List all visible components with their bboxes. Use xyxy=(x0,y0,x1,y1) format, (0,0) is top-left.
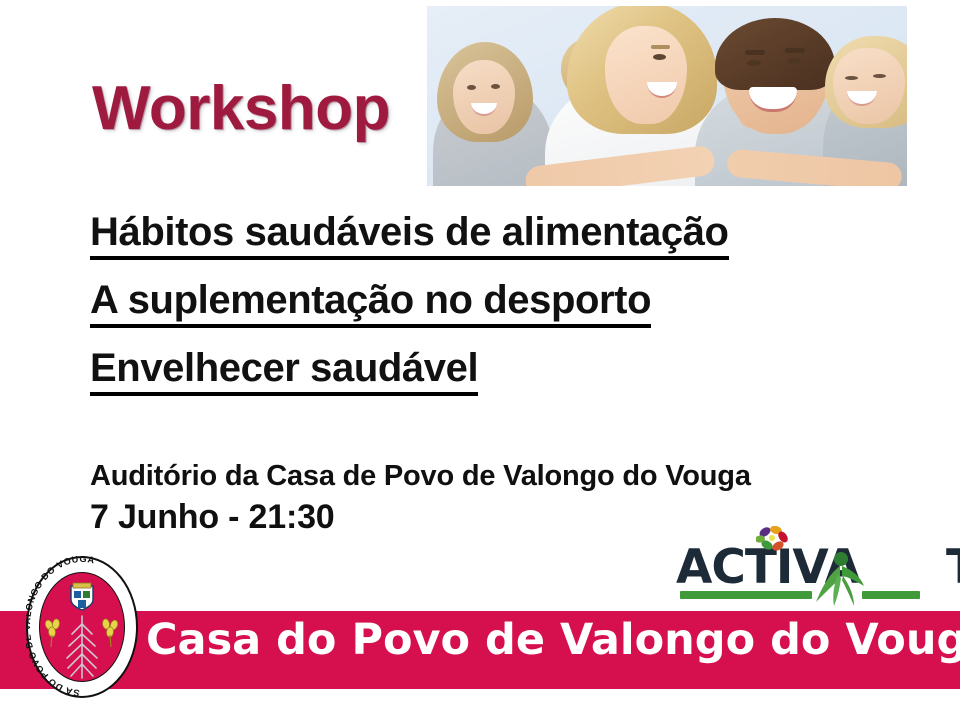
activate-logo-underline-right xyxy=(862,591,920,599)
datetime-text: 7 Junho - 21:30 xyxy=(90,498,335,537)
topic-item: A suplementação no desporto xyxy=(90,280,900,328)
shield-crest-icon xyxy=(67,582,97,612)
activate-logo: ACTIVATE xyxy=(676,528,922,610)
banner-organization-name: Casa do Povo de Valongo do Vouga xyxy=(146,619,960,662)
photo-mother-face xyxy=(605,26,687,124)
wheat-sheaf-icon xyxy=(42,618,66,648)
photo-father-eye xyxy=(787,58,801,64)
photo-father-brow xyxy=(745,50,765,55)
family-photo xyxy=(427,6,907,186)
photo-father-brow xyxy=(785,48,805,53)
wheat-sheaf-icon xyxy=(98,618,122,648)
poster-canvas: Workshop Hábit xyxy=(0,0,960,720)
photo-child-right-eye xyxy=(845,76,858,80)
photo-child-right-face xyxy=(833,48,905,124)
green-person-icon xyxy=(810,546,866,608)
photo-child-right-eye xyxy=(873,74,886,78)
photo-child-left-eye xyxy=(467,85,476,90)
topic-list: Hábitos saudáveis de alimentação A suple… xyxy=(90,212,900,416)
topic-item: Envelhecer saudável xyxy=(90,348,900,396)
venue-text: Auditório da Casa de Povo de Valongo do … xyxy=(90,460,751,493)
topic-item-label: A suplementação no desporto xyxy=(90,280,651,328)
activate-logo-underline-left xyxy=(680,591,812,599)
photo-father-eye xyxy=(747,60,761,66)
topic-item-label: Envelhecer saudável xyxy=(90,348,478,396)
pine-tree-icon xyxy=(62,614,102,680)
photo-mother-eye xyxy=(653,54,666,60)
topic-item: Hábitos saudáveis de alimentação xyxy=(90,212,900,260)
workshop-heading: Workshop xyxy=(92,78,390,140)
photo-child-left-eye xyxy=(491,84,500,89)
topic-item-label: Hábitos saudáveis de alimentação xyxy=(90,212,729,260)
photo-child-left-face xyxy=(453,60,515,134)
photo-mother-brow xyxy=(651,45,670,49)
organization-seal: CASA DO POVO DE VALONGO DO VOUGA xyxy=(26,556,138,698)
activate-logo-word-second: TE xyxy=(946,540,960,595)
pinwheel-icon xyxy=(756,526,790,554)
